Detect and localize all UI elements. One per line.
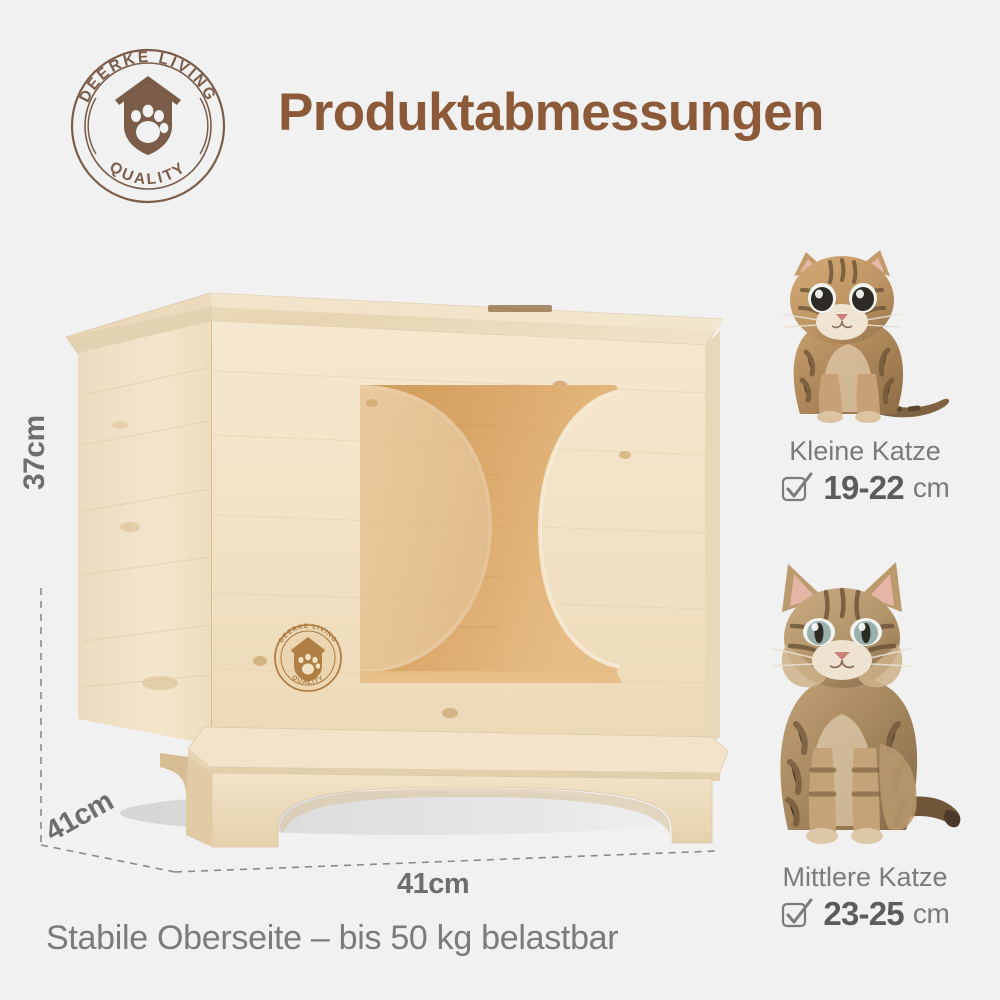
badge-right-flourish (200, 98, 208, 154)
cat-size-card-small: Kleine Katze 19-22 cm (730, 232, 1000, 507)
cat-measure-unit-medium: cm (913, 898, 950, 930)
dimension-label-height: 37cm (18, 415, 52, 490)
cat-measure-unit-small: cm (913, 472, 950, 504)
brand-badge-logo: DEERKE LIVING QUALITY (58, 36, 238, 216)
cat-measure-row-medium: 23-25 cm (730, 895, 1000, 933)
house-paw-icon (115, 76, 181, 155)
product-image-cat-house: DEERKE LIVING QUALITY (60, 275, 740, 855)
cat-measure-value-medium: 23-25 (823, 895, 903, 933)
page-title: Produktabmessungen (278, 82, 824, 143)
badge-left-flourish (88, 98, 96, 154)
top-board-notch (488, 305, 552, 312)
cat-size-label-small: Kleine Katze (730, 436, 1000, 467)
cat-measure-value-small: 19-22 (823, 469, 903, 507)
product-brand-stamp: DEERKE LIVING QUALITY (273, 623, 343, 693)
dimension-label-width: 41cm (397, 868, 469, 901)
product-dimensions-infographic: DEERKE LIVING QUALITY Produktabmessungen (0, 0, 1000, 1000)
product-right-edge (705, 331, 720, 745)
cat-measure-row-small: 19-22 cm (730, 469, 1000, 507)
product-left-panel (78, 321, 212, 745)
kitten-sitting-photo (730, 232, 1000, 432)
checkbox-checked-icon (780, 897, 814, 931)
badge-bottom-text: QUALITY (106, 158, 190, 188)
adult-tabby-cat-sitting-photo (730, 548, 1000, 858)
cat-size-label-medium: Mittlere Katze (730, 862, 1000, 893)
footer-caption: Stabile Oberseite – bis 50 kg belastbar (46, 919, 618, 958)
cat-size-card-medium: Mittlere Katze 23-25 cm (730, 548, 1000, 933)
checkbox-checked-icon (780, 471, 814, 505)
